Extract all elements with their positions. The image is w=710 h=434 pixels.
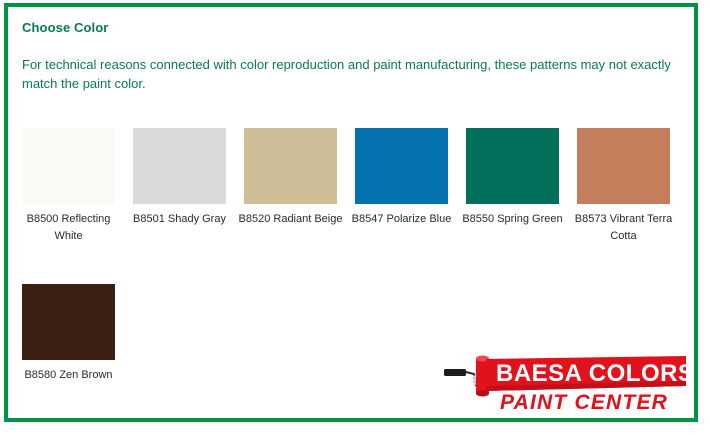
swatch-item-b8547[interactable]: B8547 Polarize Blue — [355, 128, 448, 228]
swatch-label: B8580 Zen Brown — [16, 367, 121, 384]
swatch-label: B8550 Spring Green — [460, 211, 565, 228]
disclaimer-text: For technical reasons connected with col… — [22, 55, 677, 93]
color-chip[interactable] — [355, 128, 448, 204]
swatch-item-b8573[interactable]: B8573 Vibrant Terra Cotta — [577, 128, 670, 245]
swatch-item-b8520[interactable]: B8520 Radiant Beige — [244, 128, 337, 228]
swatch-label: B8501 Shady Gray — [127, 211, 232, 228]
swatch-item-b8500[interactable]: B8500 Reflecting White — [22, 128, 115, 245]
swatch-label: B8500 Reflecting White — [16, 211, 121, 245]
logo-brand-text: BAESA COLORS — [496, 360, 692, 387]
swatch-label: B8573 Vibrant Terra Cotta — [571, 211, 676, 245]
swatch-item-b8580[interactable]: B8580 Zen Brown — [22, 284, 115, 384]
color-chip[interactable] — [577, 128, 670, 204]
paint-roller-icon — [444, 356, 489, 397]
swatch-label: B8520 Radiant Beige — [238, 211, 343, 228]
logo-tagline-text: PAINT CENTER — [500, 391, 668, 414]
choose-color-panel: Choose Color For technical reasons conne… — [4, 3, 698, 422]
color-chip[interactable] — [244, 128, 337, 204]
color-swatch-grid: B8500 Reflecting White B8501 Shady Gray … — [22, 128, 684, 384]
swatch-row: B8500 Reflecting White B8501 Shady Gray … — [22, 128, 684, 245]
swatch-item-b8501[interactable]: B8501 Shady Gray — [133, 128, 226, 228]
color-chip[interactable] — [22, 284, 115, 360]
color-chip[interactable] — [133, 128, 226, 204]
swatch-item-b8550[interactable]: B8550 Spring Green — [466, 128, 559, 228]
swatch-label: B8547 Polarize Blue — [349, 211, 454, 228]
color-chip[interactable] — [466, 128, 559, 204]
baesa-colors-logo: BAESA COLORS PAINT CENTER — [440, 350, 692, 416]
color-chip[interactable] — [22, 128, 115, 204]
page-title: Choose Color — [22, 20, 108, 35]
